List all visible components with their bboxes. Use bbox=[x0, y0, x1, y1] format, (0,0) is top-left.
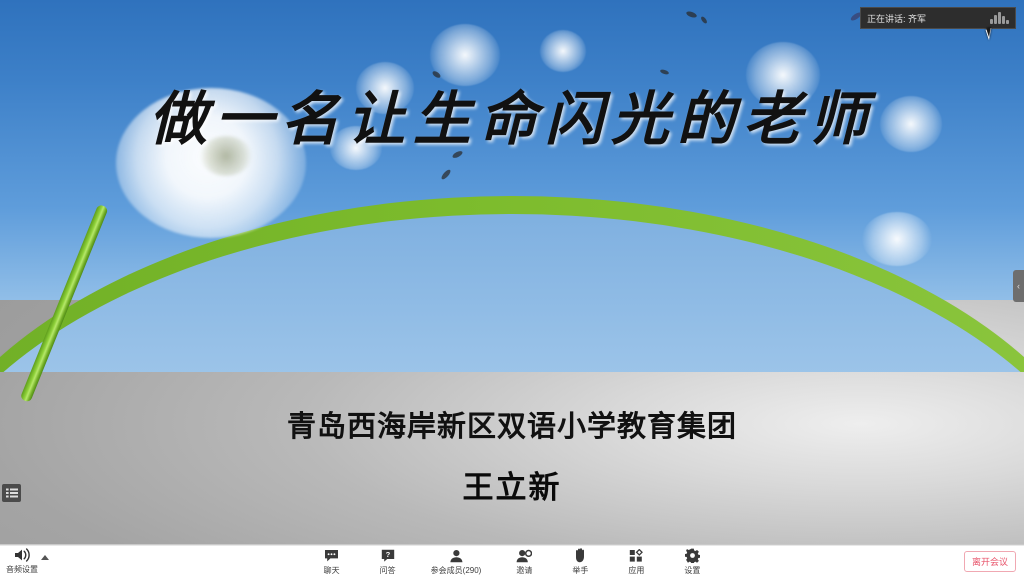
chat-label: 聊天 bbox=[324, 565, 340, 576]
invite-label: 邀请 bbox=[516, 565, 532, 576]
qa-label: 问答 bbox=[380, 565, 396, 576]
chevron-left-icon[interactable]: ‹ bbox=[1013, 270, 1024, 302]
floating-seed bbox=[862, 212, 932, 266]
slide-ground-overlay bbox=[0, 372, 1024, 545]
raise-hand-button[interactable]: 举手 bbox=[567, 548, 593, 576]
chat-icon bbox=[324, 548, 339, 563]
floating-seed bbox=[540, 30, 586, 72]
participants-icon bbox=[449, 548, 464, 563]
invite-button[interactable]: 邀请 bbox=[511, 548, 537, 576]
audio-wave-icon bbox=[990, 12, 1009, 24]
settings-button[interactable]: 设置 bbox=[679, 548, 705, 576]
slide-presenter-name: 王立新 bbox=[0, 462, 1024, 507]
participants-label: 参会成员(290) bbox=[431, 565, 482, 576]
raise-hand-icon bbox=[574, 548, 587, 563]
chat-button[interactable]: 聊天 bbox=[319, 548, 345, 576]
apps-icon bbox=[629, 548, 644, 563]
raise-hand-label: 举手 bbox=[572, 565, 588, 576]
gear-icon bbox=[685, 548, 700, 563]
apps-button[interactable]: 应用 bbox=[623, 548, 649, 576]
toolbar-center-group: 聊天 ? 问答 参会成员(290) bbox=[0, 548, 1024, 576]
svg-text:?: ? bbox=[385, 550, 390, 559]
meeting-toolbar: 音频设置 聊天 bbox=[0, 545, 1024, 576]
active-speaker-badge[interactable]: 正在讲话: 齐军 bbox=[860, 7, 1016, 29]
qa-icon: ? bbox=[381, 548, 395, 563]
list-panel-icon[interactable] bbox=[2, 484, 21, 502]
active-speaker-label: 正在讲话: 齐军 bbox=[867, 12, 986, 25]
leave-meeting-button[interactable]: 离开会议 bbox=[964, 551, 1016, 572]
presentation-slide: 做一名让生命闪光的老师 青岛西海岸新区双语小学教育集团 王立新 bbox=[0, 0, 1024, 545]
settings-label: 设置 bbox=[684, 565, 700, 576]
participants-button[interactable]: 参会成员(290) bbox=[431, 548, 482, 576]
qa-button[interactable]: ? 问答 bbox=[375, 548, 401, 576]
shared-screen-stage[interactable]: 做一名让生命闪光的老师 青岛西海岸新区双语小学教育集团 王立新 正在讲话: 齐军… bbox=[0, 0, 1024, 545]
apps-label: 应用 bbox=[628, 565, 644, 576]
slide-title: 做一名让生命闪光的老师 bbox=[0, 72, 1024, 156]
meeting-window: 做一名让生命闪光的老师 青岛西海岸新区双语小学教育集团 王立新 正在讲话: 齐军… bbox=[0, 0, 1024, 576]
invite-icon bbox=[516, 548, 532, 563]
slide-organization: 青岛西海岸新区双语小学教育集团 bbox=[0, 403, 1024, 445]
